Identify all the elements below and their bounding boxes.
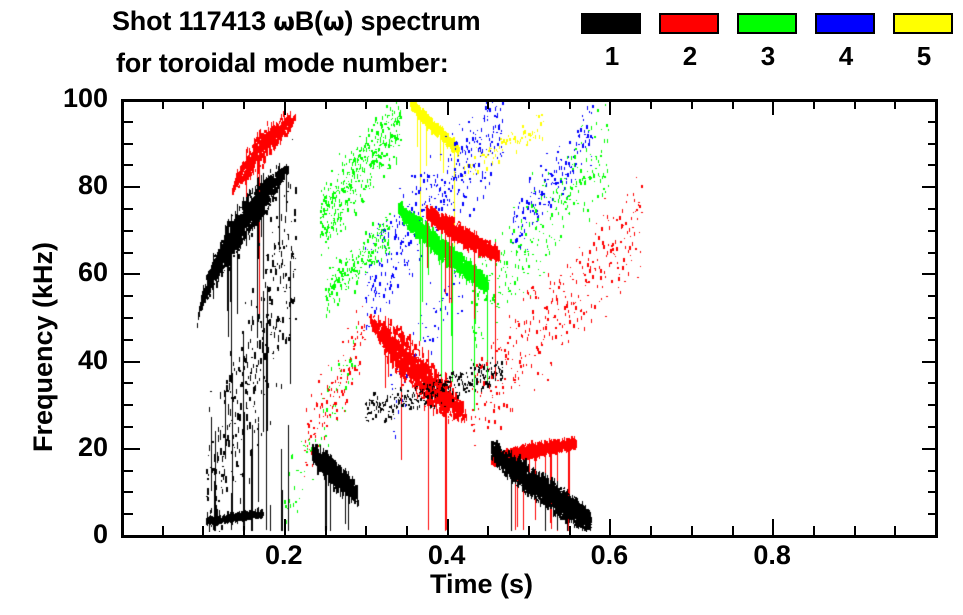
x-tick-minor bbox=[162, 526, 164, 535]
x-tick-top bbox=[162, 102, 164, 109]
y-tick-right bbox=[922, 99, 935, 101]
x-tick-minor bbox=[487, 526, 489, 535]
spectrogram-figure: Shot 117413 ωB(ω) spectrum for toroidal … bbox=[0, 0, 963, 615]
x-tick-minor bbox=[813, 526, 815, 535]
x-tick-top bbox=[650, 102, 652, 109]
x-axis-line bbox=[121, 535, 938, 538]
y-tick-right bbox=[922, 361, 935, 363]
title-spectrum-text: ) spectrum bbox=[344, 6, 480, 36]
x-tick-minor bbox=[732, 526, 734, 535]
legend-item-mode-n5: 5 bbox=[893, 13, 955, 34]
legend-label-mode-n1: 1 bbox=[581, 43, 643, 69]
x-tick-minor bbox=[365, 526, 367, 535]
x-tick-minor bbox=[325, 526, 327, 535]
x-tick-top bbox=[772, 102, 774, 115]
y-tick-minor bbox=[124, 404, 133, 406]
y-tick-minor bbox=[124, 164, 133, 166]
y-tick-minor bbox=[124, 230, 133, 232]
omega-symbol-2: ω bbox=[323, 7, 345, 36]
x-tick-top bbox=[365, 102, 367, 109]
y-tick-major bbox=[124, 273, 140, 275]
y-axis-right-line bbox=[935, 99, 938, 535]
x-tick-top bbox=[813, 102, 815, 109]
y-tick-right bbox=[922, 535, 935, 537]
x-tick-label: 0.2 bbox=[244, 542, 324, 569]
y-tick-label: 80 bbox=[28, 172, 108, 199]
x-tick-top bbox=[406, 102, 408, 109]
x-tick-top bbox=[528, 102, 530, 109]
x-tick-top bbox=[202, 102, 204, 109]
y-tick-label: 100 bbox=[28, 85, 108, 112]
y-tick-minor bbox=[124, 382, 133, 384]
y-tick-right bbox=[928, 143, 935, 145]
y-tick-right bbox=[928, 513, 935, 515]
legend-item-mode-n2: 2 bbox=[659, 13, 721, 34]
y-tick-right bbox=[928, 295, 935, 297]
y-tick-right bbox=[928, 339, 935, 341]
x-tick-top bbox=[854, 102, 856, 109]
x-tick-major bbox=[772, 519, 774, 535]
y-tick-right bbox=[928, 317, 935, 319]
x-tick-major bbox=[284, 519, 286, 535]
y-tick-right bbox=[928, 382, 935, 384]
legend-swatch-mode-n2 bbox=[659, 13, 719, 34]
legend: 12345 bbox=[581, 13, 953, 89]
y-tick-minor bbox=[124, 426, 133, 428]
y-tick-right bbox=[928, 426, 935, 428]
legend-swatch-mode-n3 bbox=[737, 13, 797, 34]
y-tick-right bbox=[928, 164, 935, 166]
plot-frame bbox=[121, 99, 938, 538]
x-tick-top bbox=[121, 102, 123, 109]
legend-label-mode-n4: 4 bbox=[815, 43, 877, 69]
x-tick-top bbox=[609, 102, 611, 115]
x-tick-label: 0.8 bbox=[732, 542, 812, 569]
legend-label-mode-n2: 2 bbox=[659, 43, 721, 69]
y-tick-minor bbox=[124, 252, 133, 254]
x-tick-minor bbox=[894, 526, 896, 535]
omega-symbol-1: ω bbox=[273, 7, 295, 36]
y-tick-minor bbox=[124, 339, 133, 341]
page-title: Shot 117413 ωB(ω) spectrum bbox=[112, 8, 480, 35]
y-tick-right bbox=[928, 121, 935, 123]
title-b-text: B( bbox=[295, 6, 323, 36]
y-tick-major bbox=[124, 99, 140, 101]
x-tick-major bbox=[609, 519, 611, 535]
y-tick-minor bbox=[124, 470, 133, 472]
y-tick-major bbox=[124, 535, 140, 537]
y-tick-right bbox=[922, 448, 935, 450]
x-tick-minor bbox=[121, 526, 123, 535]
y-tick-minor bbox=[124, 491, 133, 493]
x-tick-top bbox=[935, 102, 937, 109]
x-tick-minor bbox=[935, 526, 937, 535]
x-tick-top bbox=[487, 102, 489, 109]
y-tick-minor bbox=[124, 317, 133, 319]
x-tick-minor bbox=[569, 526, 571, 535]
y-tick-minor bbox=[124, 121, 133, 123]
y-tick-major bbox=[124, 448, 140, 450]
y-tick-major bbox=[124, 186, 140, 188]
y-tick-right bbox=[928, 230, 935, 232]
x-tick-top bbox=[447, 102, 449, 115]
x-tick-major bbox=[447, 519, 449, 535]
x-tick-minor bbox=[202, 526, 204, 535]
y-tick-minor bbox=[124, 513, 133, 515]
x-axis-label: Time (s) bbox=[0, 569, 963, 600]
y-tick-major bbox=[124, 361, 140, 363]
x-tick-top bbox=[325, 102, 327, 109]
x-tick-minor bbox=[406, 526, 408, 535]
y-tick-right bbox=[928, 470, 935, 472]
y-tick-right bbox=[922, 186, 935, 188]
legend-item-mode-n1: 1 bbox=[581, 13, 643, 34]
title-shot-text: Shot 117413 bbox=[112, 6, 273, 36]
y-tick-right bbox=[928, 491, 935, 493]
x-tick-top bbox=[569, 102, 571, 109]
legend-swatch-mode-n4 bbox=[815, 13, 875, 34]
legend-item-mode-n4: 4 bbox=[815, 13, 877, 34]
legend-swatch-mode-n5 bbox=[893, 13, 953, 34]
x-tick-minor bbox=[691, 526, 693, 535]
legend-caption: for toroidal mode number: bbox=[116, 50, 449, 77]
x-tick-top bbox=[894, 102, 896, 109]
y-axis-label: Frequency (kHz) bbox=[28, 242, 59, 452]
x-tick-label: 0.4 bbox=[407, 542, 487, 569]
y-tick-right bbox=[928, 208, 935, 210]
x-tick-label: 0.6 bbox=[569, 542, 649, 569]
legend-label-mode-n5: 5 bbox=[893, 43, 955, 69]
x-tick-minor bbox=[650, 526, 652, 535]
legend-label-mode-n3: 3 bbox=[737, 43, 799, 69]
x-tick-top bbox=[284, 102, 286, 115]
y-tick-minor bbox=[124, 208, 133, 210]
legend-item-mode-n3: 3 bbox=[737, 13, 799, 34]
x-tick-minor bbox=[854, 526, 856, 535]
y-tick-minor bbox=[124, 143, 133, 145]
x-tick-top bbox=[691, 102, 693, 109]
x-tick-minor bbox=[243, 526, 245, 535]
y-tick-label: 0 bbox=[28, 521, 108, 548]
x-tick-top bbox=[243, 102, 245, 109]
y-tick-right bbox=[928, 252, 935, 254]
x-tick-top bbox=[732, 102, 734, 109]
y-tick-minor bbox=[124, 295, 133, 297]
x-tick-minor bbox=[528, 526, 530, 535]
y-tick-right bbox=[922, 273, 935, 275]
y-tick-right bbox=[928, 404, 935, 406]
legend-swatch-mode-n1 bbox=[581, 13, 641, 34]
